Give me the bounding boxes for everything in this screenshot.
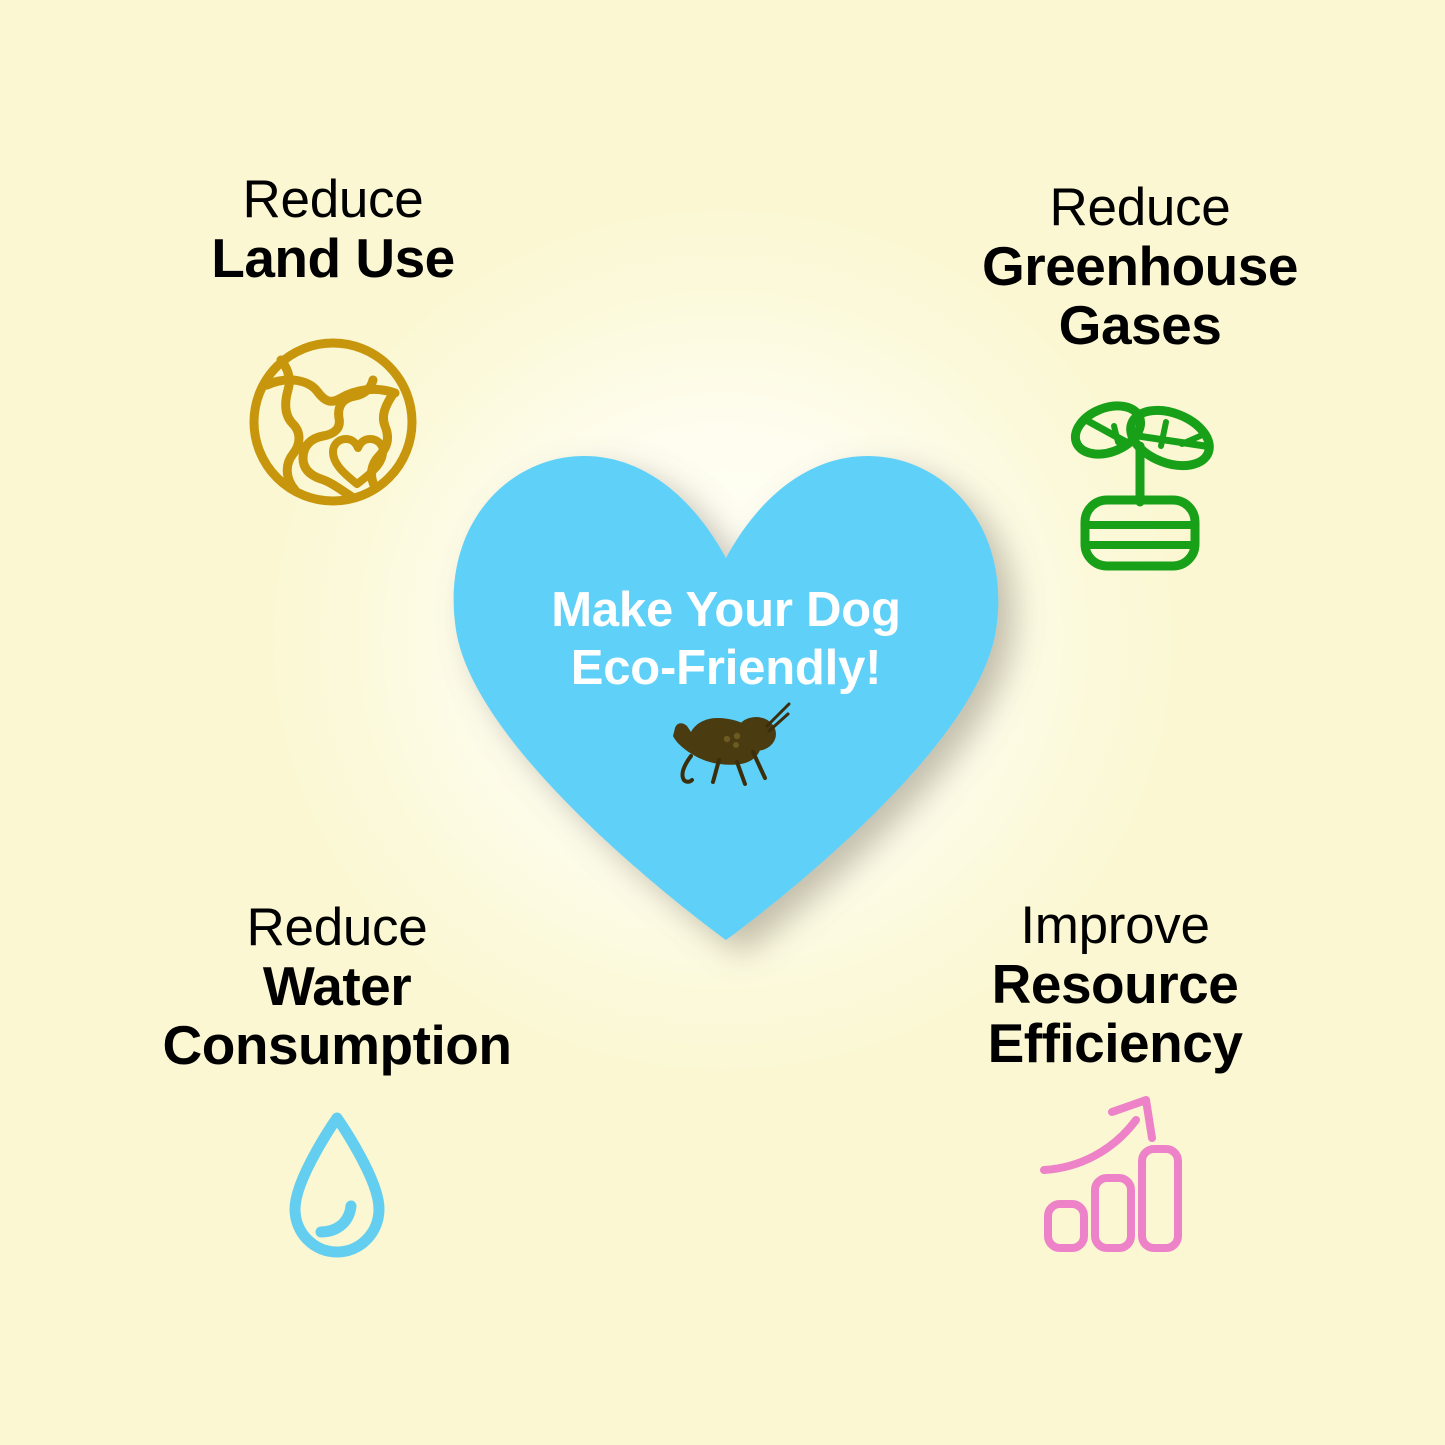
benefit-resource-efficiency: Improve Resource Efficiency <box>895 898 1335 1259</box>
center-heart: Make Your Dog Eco-Friendly! <box>436 430 1016 950</box>
benefit-land-use-line2: Land Use <box>211 229 455 288</box>
benefit-greenhouse-gases-line1: Reduce <box>915 180 1365 237</box>
benefit-greenhouse-gases-line2: Greenhouse Gases <box>915 237 1365 355</box>
potted-sprout-icon <box>1060 390 1220 577</box>
cricket-icon <box>661 698 791 790</box>
heart-shape <box>436 430 1016 950</box>
growth-chart-icon <box>1040 1094 1190 1259</box>
benefit-greenhouse-gases-label: Reduce Greenhouse Gases <box>915 180 1365 354</box>
eco-friendly-infographic: Reduce Land Use Reduce Greenhouse Gases <box>0 0 1445 1445</box>
globe-heart-icon <box>245 332 421 517</box>
water-droplet-icon <box>277 1108 397 1271</box>
benefit-land-use-line1: Reduce <box>211 172 455 229</box>
benefit-water-consumption-line2: Water Consumption <box>112 957 562 1075</box>
benefit-land-use-label: Reduce Land Use <box>211 172 455 288</box>
benefit-water-consumption: Reduce Water Consumption <box>112 900 562 1271</box>
benefit-resource-efficiency-line2: Resource Efficiency <box>895 955 1335 1073</box>
